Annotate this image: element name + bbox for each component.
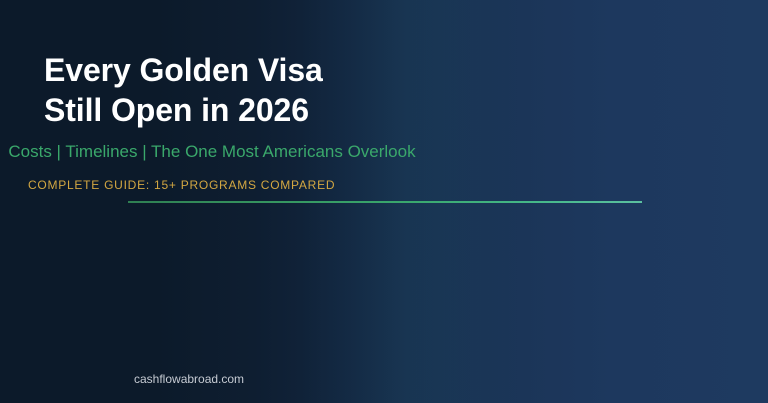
site-domain-label: cashflowabroad.com (134, 371, 244, 387)
guide-kicker-label: COMPLETE GUIDE: 15+ PROGRAMS COMPARED (28, 177, 335, 193)
banner-content: Every Golden Visa Still Open in 2026 Cos… (0, 0, 768, 403)
accent-divider (128, 201, 642, 203)
subtitle-container: Costs | Timelines | The One Most America… (0, 141, 510, 163)
promo-banner: Every Golden Visa Still Open in 2026 Cos… (0, 0, 768, 403)
page-title: Every Golden Visa Still Open in 2026 (44, 50, 744, 130)
subtitle: Costs | Timelines | The One Most America… (0, 141, 510, 163)
